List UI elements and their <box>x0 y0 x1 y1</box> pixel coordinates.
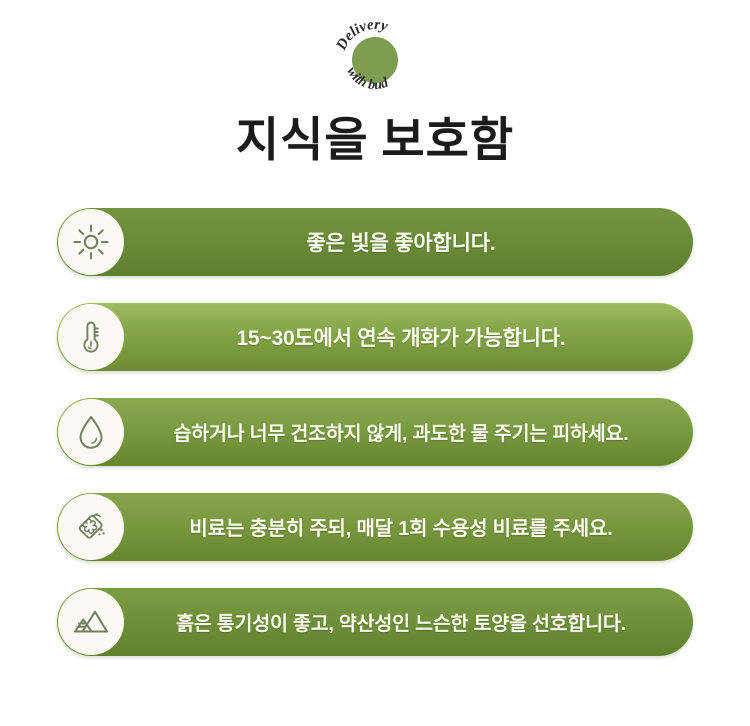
feature-row-temperature[interactable]: 15~30도에서 연속 개화가 가능합니다. <box>57 303 693 371</box>
feature-row-soil[interactable]: 흙은 통기성이 좋고, 약산성인 느슨한 토양을 선호합니다. <box>57 588 693 656</box>
delivery-with-bud-logo: Delivery with bud <box>329 13 421 105</box>
feature-text-fertilizer: 비료는 충분히 주되, 매달 1회 수용성 비료를 주세요. <box>57 512 693 541</box>
thermometer-icon <box>58 304 124 370</box>
page-title: 지식을 보호함 <box>0 112 750 168</box>
water-drop-icon <box>58 399 124 465</box>
feature-row-light[interactable]: 좋은 빛을 좋아합니다. <box>57 208 693 276</box>
soil-mountain-icon <box>58 589 124 655</box>
feature-text-soil: 흙은 통기성이 좋고, 약산성인 느슨한 토양을 선호합니다. <box>57 607 693 636</box>
feature-text-temperature: 15~30도에서 연속 개화가 가능합니다. <box>57 322 693 352</box>
feature-text-light: 좋은 빛을 좋아합니다. <box>57 227 693 257</box>
sun-icon <box>58 209 124 275</box>
feature-list: 좋은 빛을 좋아합니다. 15~30도에서 연속 개화가 가능합니다. <box>0 208 750 656</box>
logo-header: Delivery with bud <box>0 0 750 112</box>
feature-row-watering[interactable]: 습하거나 너무 건조하지 않게, 과도한 물 주기는 피하세요. <box>57 398 693 466</box>
fertilizer-icon <box>58 494 124 560</box>
feature-text-watering: 습하거나 너무 건조하지 않게, 과도한 물 주기는 피하세요. <box>57 417 693 446</box>
feature-row-fertilizer[interactable]: 비료는 충분히 주되, 매달 1회 수용성 비료를 주세요. <box>57 493 693 561</box>
